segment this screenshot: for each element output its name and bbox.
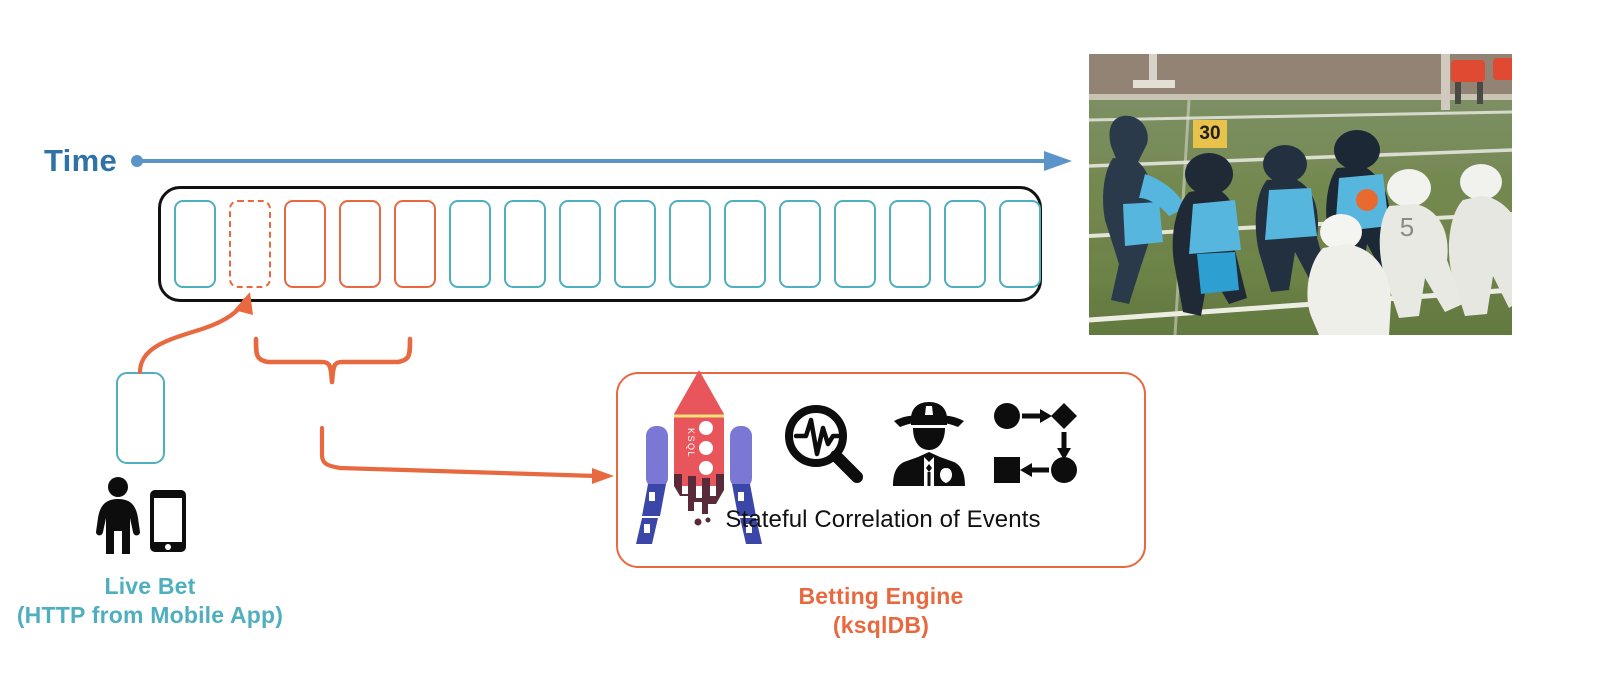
stream-cell-7[interactable]	[559, 200, 601, 288]
football-photo-illustration: 5	[1089, 54, 1512, 335]
betting-engine-panel[interactable]: KSQL	[616, 372, 1146, 568]
rocket-ksql-label: KSQL	[686, 428, 696, 458]
betting-engine-caption-line1: Betting Engine	[616, 582, 1146, 611]
stream-cell-14[interactable]	[944, 200, 986, 288]
stream-cell-13[interactable]	[889, 200, 931, 288]
stream-cell-0[interactable]	[174, 200, 216, 288]
stream-cell-12[interactable]	[834, 200, 876, 288]
event-flow-icon	[992, 400, 1080, 486]
stream-to-betting-engine-arrow	[322, 428, 614, 484]
stream-cell-3[interactable]	[339, 200, 381, 288]
stream-cell-2[interactable]	[284, 200, 326, 288]
engine-glyph-icons	[780, 400, 1080, 486]
stream-cell-10[interactable]	[724, 200, 766, 288]
stream-cell-9[interactable]	[669, 200, 711, 288]
live-bet-to-stream-arrow	[140, 292, 253, 372]
live-bet-actor-icons	[84, 476, 214, 556]
stream-cell-8[interactable]	[614, 200, 656, 288]
diagram-canvas: Time	[0, 0, 1618, 674]
betting-engine-icon-row: KSQL	[618, 382, 1148, 500]
police-officer-icon	[888, 400, 970, 486]
stream-cell-5[interactable]	[449, 200, 491, 288]
live-bet-message-box[interactable]	[116, 372, 165, 464]
stream-cell-4[interactable]	[394, 200, 436, 288]
stream-cell-15[interactable]	[999, 200, 1041, 288]
time-axis: Time	[44, 138, 1074, 184]
betting-engine-caption: Betting Engine (ksqlDB)	[616, 582, 1146, 640]
person-icon	[96, 477, 140, 554]
orange-window-brace	[256, 339, 410, 382]
stream-cell-11[interactable]	[779, 200, 821, 288]
event-stream-container	[158, 186, 1042, 302]
live-bet-caption: Live Bet (HTTP from Mobile App)	[0, 572, 300, 630]
mobile-phone-icon	[150, 490, 186, 552]
live-bet-caption-line2: (HTTP from Mobile App)	[0, 601, 300, 630]
magnifier-pulse-icon	[780, 400, 866, 486]
betting-engine-caption-line2: (ksqlDB)	[616, 611, 1146, 640]
stream-cell-6[interactable]	[504, 200, 546, 288]
svg-text:5: 5	[1400, 212, 1414, 242]
stateful-correlation-label: Stateful Correlation of Events	[638, 506, 1128, 534]
yard-marker-30: 30	[1193, 120, 1227, 148]
time-axis-label: Time	[44, 138, 117, 184]
stream-cell-1-live-bet[interactable]	[229, 200, 271, 288]
time-axis-arrow	[130, 138, 1074, 184]
live-bet-caption-line1: Live Bet	[0, 572, 300, 601]
football-game-photo: 5 30	[1089, 54, 1512, 335]
